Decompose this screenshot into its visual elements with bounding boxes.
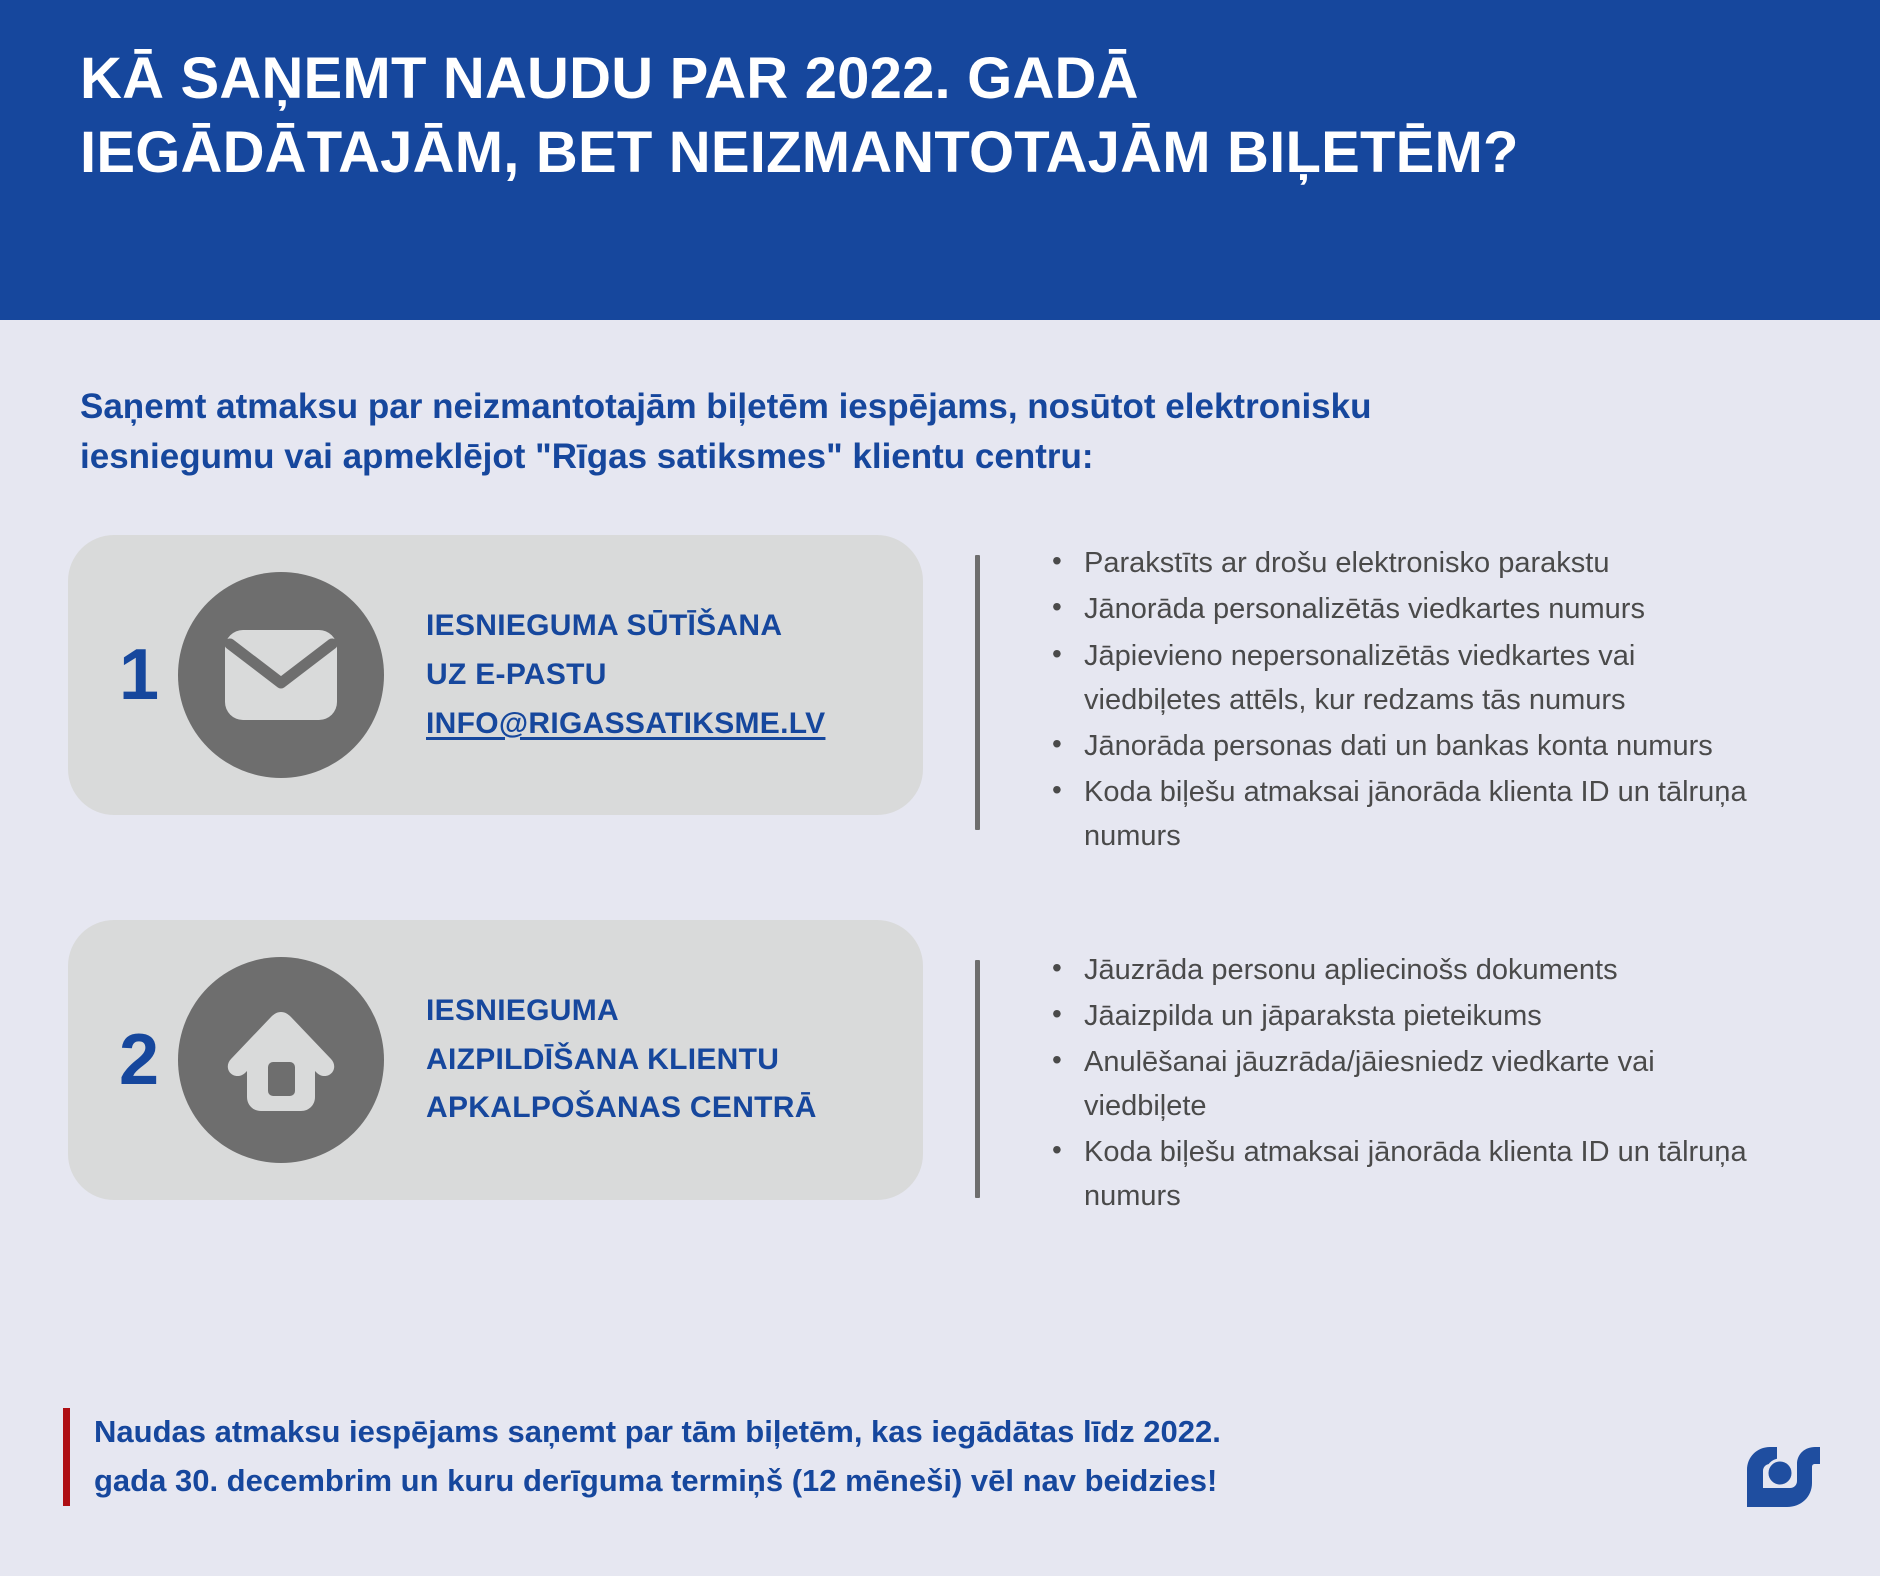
list-item: Parakstīts ar drošu elektronisko parakst…: [1050, 541, 1770, 585]
step-1-details: Parakstīts ar drošu elektronisko parakst…: [975, 535, 1800, 860]
footer-accent-bar: [63, 1408, 70, 1506]
step-card-1: 1 IESNIEGUMA SŪTĪŠANA UZ E-PASTU INFO@RI…: [68, 535, 923, 815]
envelope-icon: [178, 572, 384, 778]
step-title-1: IESNIEGUMA SŪTĪŠANA UZ E-PASTU INFO@RIGA…: [426, 602, 825, 748]
step-card-2: 2 IESNIEGUMA AIZPILDĪŠANA KLIENTU APKALP…: [68, 920, 923, 1200]
step-title-1-line-1: IESNIEGUMA SŪTĪŠANA: [426, 602, 825, 651]
step-row-2: 2 IESNIEGUMA AIZPILDĪŠANA KLIENTU APKALP…: [0, 920, 1800, 1220]
step-title-2: IESNIEGUMA AIZPILDĪŠANA KLIENTU APKALPOŠ…: [426, 987, 817, 1133]
step-title-2-line-2: AIZPILDĪŠANA KLIENTU: [426, 1036, 817, 1085]
lead-paragraph: Saņemt atmaksu par neizmantotajām biļetē…: [80, 382, 1590, 481]
step-number-1: 1: [104, 639, 174, 711]
step-title-2-line-1: IESNIEGUMA: [426, 987, 817, 1036]
list-item: Koda biļešu atmaksai jānorāda klienta ID…: [1050, 770, 1770, 858]
step-2-divider: [975, 960, 980, 1198]
list-item: Jāpievieno nepersonalizētās viedkartes v…: [1050, 634, 1770, 722]
step-2-bullet-list: Jāuzrāda personu apliecinošs dokuments J…: [1050, 946, 1770, 1220]
step-title-1-line-2: UZ E-PASTU: [426, 651, 825, 700]
lead-section: Saņemt atmaksu par neizmantotajām biļetē…: [0, 320, 1880, 481]
header-banner: KĀ SAŅEMT NAUDU PAR 2022. GADĀ IEGĀDĀTAJ…: [0, 0, 1880, 320]
steps-section: 1 IESNIEGUMA SŪTĪŠANA UZ E-PASTU INFO@RI…: [0, 535, 1880, 1220]
list-item: Anulēšanai jāuzrāda/jāiesniedz viedkarte…: [1050, 1040, 1770, 1128]
page-title: KĀ SAŅEMT NAUDU PAR 2022. GADĀ IEGĀDĀTAJ…: [80, 42, 1800, 190]
home-icon: [178, 957, 384, 1163]
list-item: Jāaizpilda un jāparaksta pieteikums: [1050, 994, 1770, 1038]
step-2-details: Jāuzrāda personu apliecinošs dokuments J…: [975, 920, 1800, 1220]
lead-line-2: iesniegumu vai apmeklējot "Rīgas satiksm…: [80, 432, 1590, 482]
list-item: Koda biļešu atmaksai jānorāda klienta ID…: [1050, 1130, 1770, 1218]
step-number-2: 2: [104, 1024, 174, 1096]
footer-note: Naudas atmaksu iespējams saņemt par tām …: [63, 1408, 1221, 1506]
footer-note-text: Naudas atmaksu iespējams saņemt par tām …: [94, 1408, 1221, 1506]
list-item: Jānorāda personalizētās viedkartes numur…: [1050, 587, 1770, 631]
list-item: Jāuzrāda personu apliecinošs dokuments: [1050, 948, 1770, 992]
step-title-2-line-3: APKALPOŠANAS CENTRĀ: [426, 1084, 817, 1133]
list-item: Jānorāda personas dati un bankas konta n…: [1050, 724, 1770, 768]
step-row-1: 1 IESNIEGUMA SŪTĪŠANA UZ E-PASTU INFO@RI…: [0, 535, 1800, 860]
step-1-divider: [975, 555, 980, 830]
rigas-satiksme-logo: [1732, 1440, 1822, 1512]
step-1-bullet-list: Parakstīts ar drošu elektronisko parakst…: [1050, 539, 1770, 860]
lead-line-1: Saņemt atmaksu par neizmantotajām biļetē…: [80, 382, 1590, 432]
email-link[interactable]: INFO@RIGASSATIKSME.LV: [426, 700, 825, 749]
